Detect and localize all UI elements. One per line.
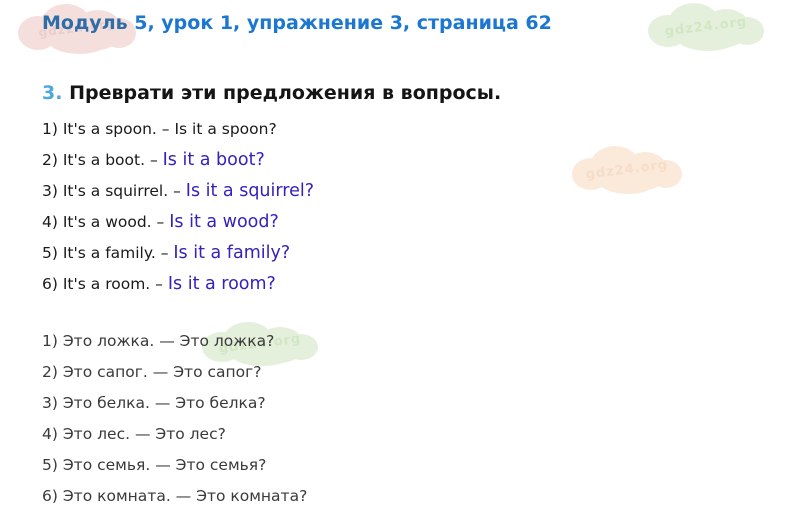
russian-translation-line: 6) Это комната. — Это комната? (42, 481, 307, 512)
question-answer-text: Это семья? (176, 456, 267, 474)
item-number: 6) (42, 275, 58, 293)
item-number: 2) (42, 151, 58, 169)
separator-dash: — (176, 487, 192, 505)
question-answer-text: Is it a squirrel? (186, 181, 314, 201)
item-number: 6) (42, 487, 58, 505)
breadcrumb-module-label: Модуль (42, 12, 128, 34)
separator-dash: – (155, 275, 163, 293)
exercise-heading: 3. Преврати эти предложения в вопросы. (42, 84, 501, 103)
russian-translation-line: 4) Это лес. — Это лес? (42, 419, 307, 450)
question-answer-text: Это белка? (175, 394, 265, 412)
watermark-cloud-mid-right: gdz24.org (572, 146, 682, 194)
question-answer-text: Is it a spoon? (174, 120, 276, 138)
statement-text: It's a boot. (63, 151, 145, 169)
separator-dash: – (161, 244, 169, 262)
item-number: 3) (42, 182, 58, 200)
breadcrumb-details: 5, урок 1, упражнение 3, страница 62 (128, 12, 552, 34)
separator-dash: – (162, 120, 170, 138)
statement-text: It's a room. (63, 275, 150, 293)
russian-translation-line: 2) Это сапог. — Это сапог? (42, 357, 307, 388)
statement-text: Это белка. (63, 394, 150, 412)
question-answer-text: Is it a family? (173, 243, 290, 263)
exercise-title: Преврати эти предложения в вопросы. (69, 82, 501, 104)
separator-dash: — (153, 363, 169, 381)
statement-text: It's a family. (63, 244, 156, 262)
watermark-text: gdz24.org (648, 12, 765, 41)
watermark-cloud-top-right: gdz24.org (648, 3, 764, 51)
separator-dash: – (150, 151, 158, 169)
exercise-number: 3. (42, 82, 62, 104)
statement-text: Это семья. (63, 456, 150, 474)
item-number: 3) (42, 394, 58, 412)
watermark-text: gdz24.org (571, 156, 682, 184)
item-number: 1) (42, 120, 58, 138)
question-answer-text: Is it a boot? (163, 150, 265, 170)
russian-translation-list: 1) Это ложка. — Это ложка?2) Это сапог. … (42, 326, 307, 512)
english-answer-list: 1) It's a spoon. – Is it a spoon?2) It's… (42, 114, 314, 300)
item-number: 5) (42, 244, 58, 262)
question-answer-text: Это комната? (196, 487, 307, 505)
separator-dash: — (155, 394, 171, 412)
statement-text: It's a spoon. (63, 120, 157, 138)
statement-text: It's a squirrel. (63, 182, 168, 200)
item-number: 4) (42, 425, 58, 443)
statement-text: It's a wood. (63, 213, 152, 231)
english-answer-line: 3) It's a squirrel. – Is it a squirrel? (42, 176, 314, 207)
separator-dash: — (155, 456, 171, 474)
item-number: 5) (42, 456, 58, 474)
question-answer-text: Это лес? (155, 425, 225, 443)
item-number: 2) (42, 363, 58, 381)
separator-dash: – (173, 182, 181, 200)
question-answer-text: Это сапог? (173, 363, 261, 381)
english-answer-line: 1) It's a spoon. – Is it a spoon? (42, 114, 314, 145)
item-number: 1) (42, 332, 58, 350)
statement-text: Это сапог. (63, 363, 148, 381)
item-number: 4) (42, 213, 58, 231)
question-answer-text: Is it a room? (168, 274, 276, 294)
separator-dash: — (159, 332, 175, 350)
statement-text: Это комната. (63, 487, 171, 505)
separator-dash: – (157, 213, 165, 231)
russian-translation-line: 3) Это белка. — Это белка? (42, 388, 307, 419)
russian-translation-line: 1) Это ложка. — Это ложка? (42, 326, 307, 357)
statement-text: Это ложка. (63, 332, 154, 350)
statement-text: Это лес. (63, 425, 130, 443)
english-answer-line: 5) It's a family. – Is it a family? (42, 238, 314, 269)
separator-dash: — (135, 425, 151, 443)
russian-translation-line: 5) Это семья. — Это семья? (42, 450, 307, 481)
english-answer-line: 6) It's a room. – Is it a room? (42, 269, 314, 300)
question-answer-text: Это ложка? (180, 332, 275, 350)
breadcrumb: Модуль 5, урок 1, упражнение 3, страница… (42, 14, 552, 33)
english-answer-line: 2) It's a boot. – Is it a boot? (42, 145, 314, 176)
question-answer-text: Is it a wood? (169, 212, 279, 232)
english-answer-line: 4) It's a wood. – Is it a wood? (42, 207, 314, 238)
